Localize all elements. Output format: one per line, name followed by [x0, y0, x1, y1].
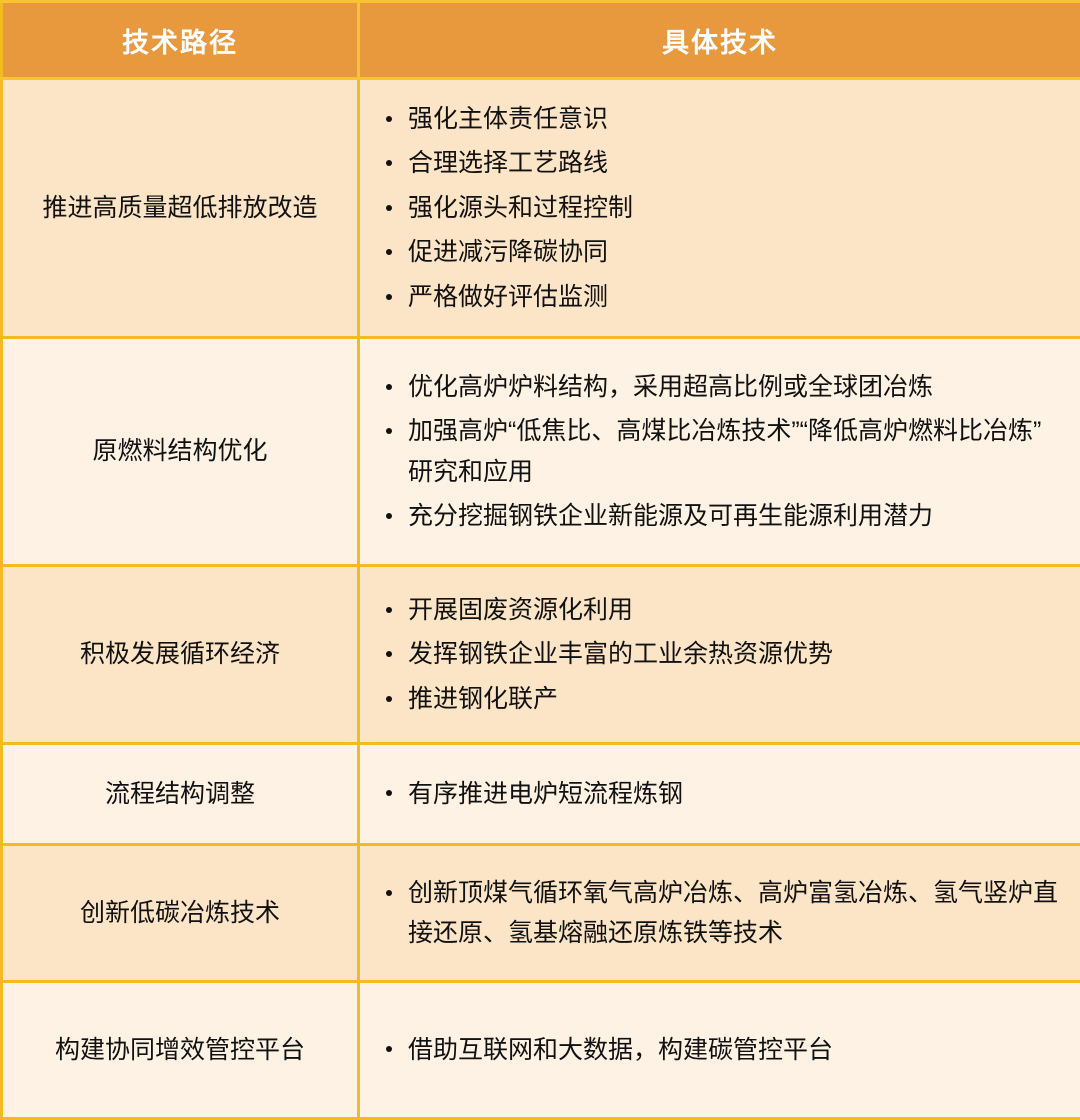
list-item: 创新顶煤气循环氧气高炉冶炼、高炉富氢冶炼、氢气竖炉直接还原、氢基熔融还原炼铁等技… [382, 873, 1062, 954]
column-header-specific-technology: 具体技术 [359, 2, 1080, 79]
table-row: 原燃料结构优化 优化高炉炉料结构，采用超高比例或全球团冶炼 加强高炉“低焦比、高… [2, 338, 1080, 566]
cell-technology-path: 构建协同增效管控平台 [2, 982, 359, 1119]
table-header: 技术路径 具体技术 [2, 2, 1080, 79]
list-item: 强化源头和过程控制 [382, 188, 1062, 229]
table-body: 推进高质量超低排放改造 强化主体责任意识 合理选择工艺路线 强化源头和过程控制 … [2, 79, 1080, 1119]
technology-list: 优化高炉炉料结构，采用超高比例或全球团冶炼 加强高炉“低焦比、高煤比冶炼技术”“… [382, 367, 1062, 537]
list-item: 推进钢化联产 [382, 679, 1062, 720]
list-item: 促进减污降碳协同 [382, 232, 1062, 273]
table-row: 积极发展循环经济 开展固废资源化利用 发挥钢铁企业丰富的工业余热资源优势 推进钢… [2, 566, 1080, 744]
table-row: 推进高质量超低排放改造 强化主体责任意识 合理选择工艺路线 强化源头和过程控制 … [2, 79, 1080, 338]
cell-specific-technology: 开展固废资源化利用 发挥钢铁企业丰富的工业余热资源优势 推进钢化联产 [359, 566, 1080, 744]
table-header-row: 技术路径 具体技术 [2, 2, 1080, 79]
cell-technology-path: 推进高质量超低排放改造 [2, 79, 359, 338]
cell-specific-technology: 有序推进电炉短流程炼钢 [359, 744, 1080, 845]
list-item: 开展固废资源化利用 [382, 590, 1062, 631]
list-item: 优化高炉炉料结构，采用超高比例或全球团冶炼 [382, 367, 1062, 408]
list-item: 加强高炉“低焦比、高煤比冶炼技术”“降低高炉燃料比冶炼”研究和应用 [382, 411, 1062, 492]
cell-specific-technology: 借助互联网和大数据，构建碳管控平台 [359, 982, 1080, 1119]
cell-specific-technology: 创新顶煤气循环氧气高炉冶炼、高炉富氢冶炼、氢气竖炉直接还原、氢基熔融还原炼铁等技… [359, 845, 1080, 982]
technology-list: 开展固废资源化利用 发挥钢铁企业丰富的工业余热资源优势 推进钢化联产 [382, 590, 1062, 720]
cell-technology-path: 创新低碳冶炼技术 [2, 845, 359, 982]
technology-list: 借助互联网和大数据，构建碳管控平台 [382, 1030, 1062, 1071]
cell-technology-path: 原燃料结构优化 [2, 338, 359, 566]
cell-specific-technology: 强化主体责任意识 合理选择工艺路线 强化源头和过程控制 促进减污降碳协同 严格做… [359, 79, 1080, 338]
list-item: 有序推进电炉短流程炼钢 [382, 774, 1062, 815]
table-row: 流程结构调整 有序推进电炉短流程炼钢 [2, 744, 1080, 845]
cell-technology-path: 积极发展循环经济 [2, 566, 359, 744]
list-item: 合理选择工艺路线 [382, 143, 1062, 184]
technology-list: 创新顶煤气循环氧气高炉冶炼、高炉富氢冶炼、氢气竖炉直接还原、氢基熔融还原炼铁等技… [382, 873, 1062, 954]
cell-technology-path: 流程结构调整 [2, 744, 359, 845]
list-item: 借助互联网和大数据，构建碳管控平台 [382, 1030, 1062, 1071]
list-item: 严格做好评估监测 [382, 277, 1062, 318]
technology-list: 强化主体责任意识 合理选择工艺路线 强化源头和过程控制 促进减污降碳协同 严格做… [382, 99, 1062, 318]
technology-pathway-table: 技术路径 具体技术 推进高质量超低排放改造 强化主体责任意识 合理选择工艺路线 … [0, 0, 1080, 1120]
list-item: 充分挖掘钢铁企业新能源及可再生能源利用潜力 [382, 496, 1062, 537]
table-row: 创新低碳冶炼技术 创新顶煤气循环氧气高炉冶炼、高炉富氢冶炼、氢气竖炉直接还原、氢… [2, 845, 1080, 982]
table-row: 构建协同增效管控平台 借助互联网和大数据，构建碳管控平台 [2, 982, 1080, 1119]
list-item: 发挥钢铁企业丰富的工业余热资源优势 [382, 634, 1062, 675]
cell-specific-technology: 优化高炉炉料结构，采用超高比例或全球团冶炼 加强高炉“低焦比、高煤比冶炼技术”“… [359, 338, 1080, 566]
column-header-technology-path: 技术路径 [2, 2, 359, 79]
technology-pathway-table-container: 技术路径 具体技术 推进高质量超低排放改造 强化主体责任意识 合理选择工艺路线 … [0, 0, 1080, 976]
list-item: 强化主体责任意识 [382, 99, 1062, 140]
technology-list: 有序推进电炉短流程炼钢 [382, 774, 1062, 815]
